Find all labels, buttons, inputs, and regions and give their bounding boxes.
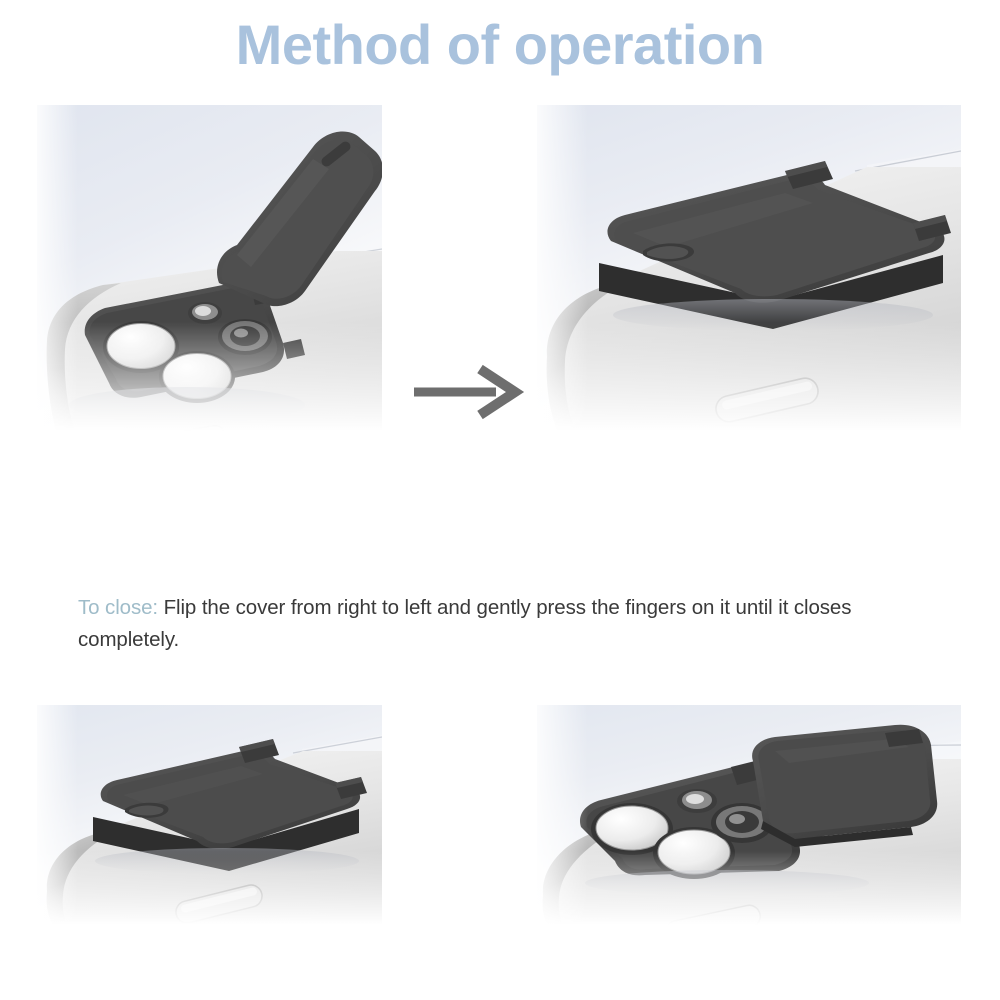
caption-close-text: Flip the cover from right to left and ge… — [78, 596, 851, 651]
step-open-images — [0, 705, 1000, 943]
step-close-images — [0, 105, 1000, 457]
page-root: Method of operation — [0, 0, 1000, 1000]
render-cover-closed-top — [537, 105, 961, 455]
step-close: To close: Flip the cover from right to l… — [0, 105, 1000, 457]
image-cover-open-upright — [37, 105, 382, 455]
page-title: Method of operation — [0, 14, 1000, 76]
caption-close-lead: To close: — [78, 596, 158, 619]
caption-close: To close: Flip the cover from right to l… — [78, 592, 938, 656]
image-cover-closed-top — [537, 105, 961, 455]
render-cover-open-upright — [37, 105, 382, 455]
arrow-right-icon — [410, 363, 528, 421]
step-open: To open: Flip the cover open from the no… — [0, 705, 1000, 943]
render-cover-open-flipped-right — [537, 705, 961, 941]
image-cover-open-flipped-right — [537, 705, 961, 941]
image-cover-closed-bottom — [37, 705, 382, 941]
render-cover-closed-bottom — [37, 705, 382, 941]
